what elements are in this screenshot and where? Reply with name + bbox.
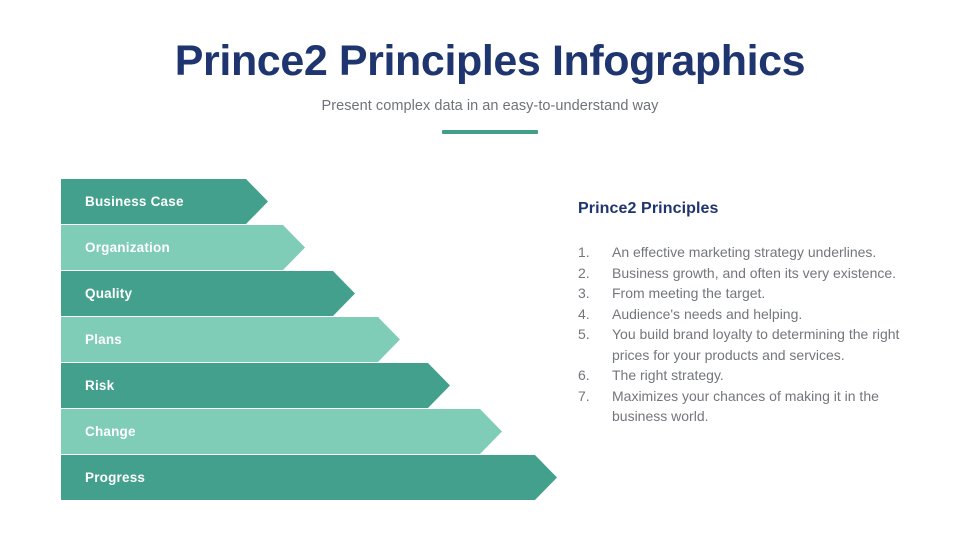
list-item-number: 6. [578, 365, 612, 386]
list-item: 1. An effective marketing strategy under… [578, 242, 930, 263]
list-item-number: 1. [578, 242, 612, 263]
list-item-text: Business growth, and often its very exis… [612, 263, 930, 284]
funnel-row-label: Plans [61, 332, 122, 347]
list-item-text: An effective marketing strategy underlin… [612, 242, 930, 263]
funnel-row[interactable]: Risk [61, 363, 561, 408]
page-title: Prince2 Principles Infographics [0, 38, 980, 84]
principles-list: 1. An effective marketing strategy under… [578, 242, 930, 427]
funnel-row[interactable]: Plans [61, 317, 561, 362]
list-item: 4. Audience's needs and helping. [578, 304, 930, 325]
list-item-number: 3. [578, 283, 612, 304]
list-item-number: 7. [578, 386, 612, 407]
accent-divider [442, 130, 538, 134]
funnel-row-label: Quality [61, 286, 132, 301]
list-item-text: Maximizes your chances of making it in t… [612, 386, 930, 427]
list-item: 6. The right strategy. [578, 365, 930, 386]
list-item-text: Audience's needs and helping. [612, 304, 930, 325]
list-item-text: From meeting the target. [612, 283, 930, 304]
funnel-row[interactable]: Organization [61, 225, 561, 270]
funnel-row[interactable]: Change [61, 409, 561, 454]
list-item: 5. You build brand loyalty to determinin… [578, 324, 930, 365]
header: Prince2 Principles Infographics Present … [0, 38, 980, 134]
list-item: 3. From meeting the target. [578, 283, 930, 304]
list-item: 2. Business growth, and often its very e… [578, 263, 930, 284]
funnel-row-label: Change [61, 424, 136, 439]
content-panel: Prince2 Principles 1. An effective marke… [578, 200, 930, 427]
funnel-row[interactable]: Quality [61, 271, 561, 316]
funnel-row-label: Organization [61, 240, 170, 255]
list-item-number: 2. [578, 263, 612, 284]
list-item-number: 4. [578, 304, 612, 325]
slide-canvas: Prince2 Principles Infographics Present … [0, 0, 980, 551]
page-subtitle: Present complex data in an easy-to-under… [0, 98, 980, 114]
funnel-row[interactable]: Business Case [61, 179, 561, 224]
funnel-chart: Business Case Organization Quality Plans… [61, 179, 561, 501]
list-item-number: 5. [578, 324, 612, 345]
content-heading: Prince2 Principles [578, 200, 930, 218]
funnel-row-label: Risk [61, 378, 114, 393]
funnel-row-label: Progress [61, 470, 145, 485]
list-item: 7. Maximizes your chances of making it i… [578, 386, 930, 427]
list-item-text: The right strategy. [612, 365, 930, 386]
funnel-row[interactable]: Progress [61, 455, 561, 500]
list-item-text: You build brand loyalty to determining t… [612, 324, 930, 365]
funnel-arrow-shape [61, 363, 450, 408]
funnel-row-label: Business Case [61, 194, 184, 209]
